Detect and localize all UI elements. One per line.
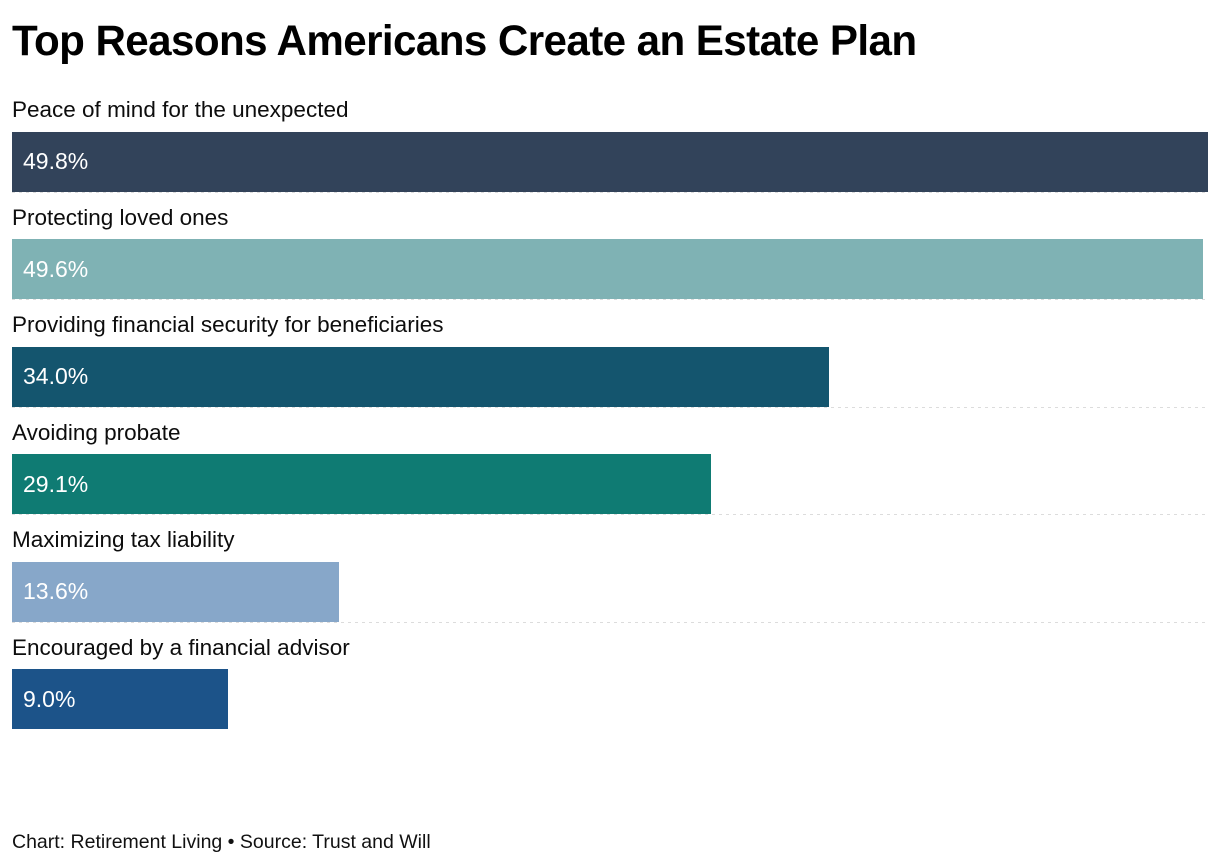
bar-category-label: Providing financial security for benefic… <box>12 300 1208 347</box>
bar-row: Encouraged by a financial advisor9.0% <box>12 622 1208 730</box>
bar-chart-plot: Peace of mind for the unexpected49.8%Pro… <box>12 85 1208 729</box>
chart-container: Top Reasons Americans Create an Estate P… <box>0 0 1220 868</box>
bar-value-label: 29.1% <box>12 473 88 496</box>
bar-category-label: Peace of mind for the unexpected <box>12 85 1208 132</box>
bar-value-label: 49.8% <box>12 150 88 173</box>
bar-category-label: Avoiding probate <box>12 408 1208 455</box>
bar-track: 9.0% <box>12 669 1208 729</box>
chart-credit-footer: Chart: Retirement Living • Source: Trust… <box>12 831 431 854</box>
bar-category-label: Maximizing tax liability <box>12 515 1208 562</box>
bar-track: 49.8% <box>12 132 1208 192</box>
bar-track: 13.6% <box>12 562 1208 622</box>
bar-fill[interactable]: 29.1% <box>12 454 711 514</box>
bar-row: Providing financial security for benefic… <box>12 299 1208 407</box>
bar-row: Maximizing tax liability13.6% <box>12 514 1208 622</box>
bar-fill[interactable]: 49.6% <box>12 239 1203 299</box>
bar-row: Peace of mind for the unexpected49.8% <box>12 85 1208 192</box>
bar-value-label: 9.0% <box>12 688 75 711</box>
bar-track: 34.0% <box>12 347 1208 407</box>
bar-row: Avoiding probate29.1% <box>12 407 1208 515</box>
bar-track: 49.6% <box>12 239 1208 299</box>
bar-row: Protecting loved ones49.6% <box>12 192 1208 300</box>
bar-fill[interactable]: 13.6% <box>12 562 339 622</box>
bar-value-label: 49.6% <box>12 258 88 281</box>
bar-category-label: Protecting loved ones <box>12 193 1208 240</box>
bar-fill[interactable]: 34.0% <box>12 347 829 407</box>
bar-category-label: Encouraged by a financial advisor <box>12 623 1208 670</box>
bar-fill[interactable]: 49.8% <box>12 132 1208 192</box>
bar-value-label: 13.6% <box>12 580 88 603</box>
bar-fill[interactable]: 9.0% <box>12 669 228 729</box>
bar-track: 29.1% <box>12 454 1208 514</box>
bar-value-label: 34.0% <box>12 365 88 388</box>
chart-title: Top Reasons Americans Create an Estate P… <box>12 0 1184 63</box>
